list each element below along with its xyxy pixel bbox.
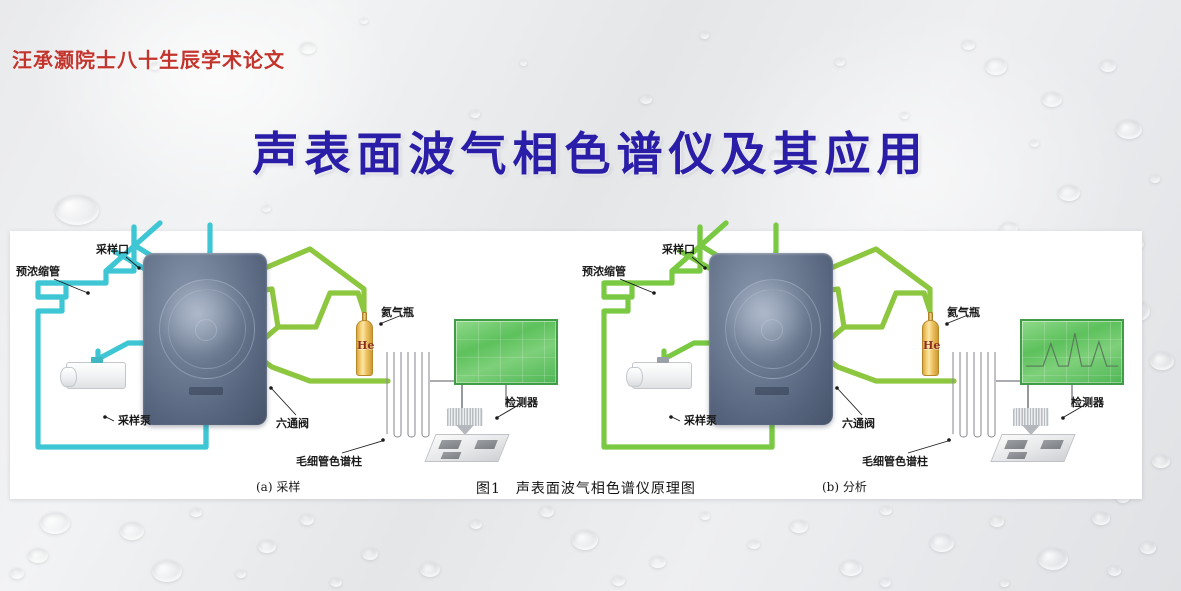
- water-droplet: [10, 568, 24, 579]
- water-droplet: [990, 516, 1004, 527]
- capillary-column-a: [383, 352, 437, 442]
- water-droplet: [262, 205, 271, 212]
- water-droplet: [362, 548, 378, 560]
- water-droplet: [470, 520, 482, 529]
- six-way-valve-body-a: [143, 253, 267, 425]
- detector-chip-pad-lower-a: [441, 452, 462, 459]
- water-droplet: [1108, 566, 1121, 576]
- water-droplet: [1150, 352, 1174, 370]
- label-preconcentrator-a: 预浓缩管: [16, 266, 60, 277]
- helium-symbol-a: He: [357, 339, 374, 352]
- label-sampling-pump-a: 采样泵: [118, 415, 151, 426]
- detector-heatsink-b: [1013, 408, 1049, 426]
- water-droplet: [520, 60, 527, 66]
- helium-symbol-b: He: [923, 339, 940, 352]
- water-droplet: [640, 95, 652, 104]
- six-way-valve-body-b: [709, 253, 833, 425]
- detector-chip-pad-lower-b: [1007, 452, 1028, 459]
- water-droplet: [152, 560, 182, 582]
- water-droplet: [258, 540, 276, 553]
- label-preconcentrator-b: 预浓缩管: [582, 266, 626, 277]
- label-sampling-port-a: 采样口: [96, 244, 129, 255]
- water-droplet: [40, 512, 70, 534]
- subfigure-caption-a: (a) 采样: [256, 478, 300, 495]
- sampling-pump-cylinder-b: [626, 367, 643, 387]
- detector-chip-pad-left-b: [1004, 440, 1028, 449]
- water-droplet: [1100, 60, 1116, 72]
- water-droplet: [930, 534, 954, 552]
- sampling-pump-port-a: [91, 357, 103, 363]
- detector-chip-pad-left-a: [438, 440, 462, 449]
- detector-chip-pad-right-a: [474, 440, 498, 449]
- water-droplet: [28, 548, 48, 563]
- detector-chip-base-b: [990, 434, 1075, 462]
- label-capillary-column-b: 毛细管色谱柱: [862, 456, 928, 467]
- slide-canvas: 汪承灏院士八十生辰学术论文 声表面波气相色谱仪及其应用 He: [0, 0, 1181, 591]
- water-droplet: [190, 508, 202, 517]
- valve-foot-b: [755, 387, 789, 395]
- water-droplet: [612, 576, 625, 586]
- figure-caption: 图1 声表面波气相色谱仪原理图: [476, 478, 696, 498]
- detector-chip-pad-right-b: [1040, 440, 1064, 449]
- water-droplet: [962, 40, 975, 50]
- water-droplet: [540, 506, 554, 517]
- water-droplet: [1042, 92, 1062, 107]
- water-droplet: [236, 570, 246, 578]
- water-droplet: [835, 58, 845, 66]
- subfigure-a-sampling: He 预浓缩管 采样口 采样泵 六通阀 氦气瓶 毛细管色谱柱 检测器: [10, 231, 576, 499]
- water-droplet: [1140, 542, 1156, 554]
- label-capillary-column-a: 毛细管色谱柱: [296, 456, 362, 467]
- detector-chip-base-a: [424, 434, 509, 462]
- label-sampling-port-b: 采样口: [662, 244, 695, 255]
- water-droplet: [1092, 512, 1110, 525]
- label-sampling-pump-b: 采样泵: [684, 415, 717, 426]
- water-droplet: [1152, 455, 1170, 468]
- label-detector-a: 检测器: [505, 397, 538, 408]
- label-six-way-valve-a: 六通阀: [276, 418, 309, 429]
- water-droplet: [840, 560, 862, 576]
- water-droplet: [700, 512, 710, 520]
- water-droplet: [700, 32, 709, 39]
- water-droplet: [790, 520, 808, 533]
- water-droplet: [300, 514, 314, 525]
- valve-hub-b: [761, 319, 783, 341]
- water-droplet: [330, 578, 342, 587]
- detector-heatsink-a: [447, 408, 483, 426]
- water-droplet: [300, 42, 316, 54]
- subfigure-caption-b: (b) 分析: [822, 478, 867, 495]
- valve-hub-a: [195, 319, 217, 341]
- water-droplet: [985, 58, 1007, 75]
- capillary-column-b: [949, 352, 1003, 442]
- water-droplet: [470, 110, 480, 118]
- label-six-way-valve-b: 六通阀: [842, 418, 875, 429]
- monitor-grid-a: [456, 321, 556, 383]
- page-title: 声表面波气相色谱仪及其应用: [0, 118, 1181, 184]
- water-droplet: [880, 578, 891, 587]
- sampling-pump-port-b: [657, 357, 669, 363]
- sampling-pump-cylinder-a: [60, 367, 77, 387]
- water-droplet: [120, 522, 144, 540]
- water-droplet: [650, 556, 666, 568]
- water-droplet: [1058, 185, 1080, 201]
- water-droplet: [880, 506, 892, 515]
- figure-panel: He 预浓缩管 采样口 采样泵 六通阀 氦气瓶 毛细管色谱柱 检测器: [10, 231, 1142, 499]
- header-title: 汪承灏院士八十生辰学术论文: [12, 44, 285, 73]
- subfigure-b-analysis: He 预浓缩管 采样口 采样泵 六通阀 氦气瓶 毛细管色谱柱 检测器: [576, 231, 1142, 499]
- label-helium-cylinder-b: 氦气瓶: [947, 307, 980, 318]
- chromatogram-trace-b: [1022, 321, 1122, 383]
- water-droplet: [420, 562, 440, 577]
- label-helium-cylinder-a: 氦气瓶: [381, 307, 414, 318]
- water-droplet: [1038, 548, 1068, 570]
- display-monitor-b: [1020, 319, 1124, 385]
- display-monitor-a: [454, 319, 558, 385]
- water-droplet: [360, 18, 368, 24]
- label-detector-b: 检测器: [1071, 397, 1104, 408]
- water-droplet: [572, 530, 598, 550]
- valve-foot-a: [189, 387, 223, 395]
- water-droplet: [748, 540, 760, 549]
- water-droplet: [1000, 580, 1009, 587]
- water-droplet: [55, 195, 99, 225]
